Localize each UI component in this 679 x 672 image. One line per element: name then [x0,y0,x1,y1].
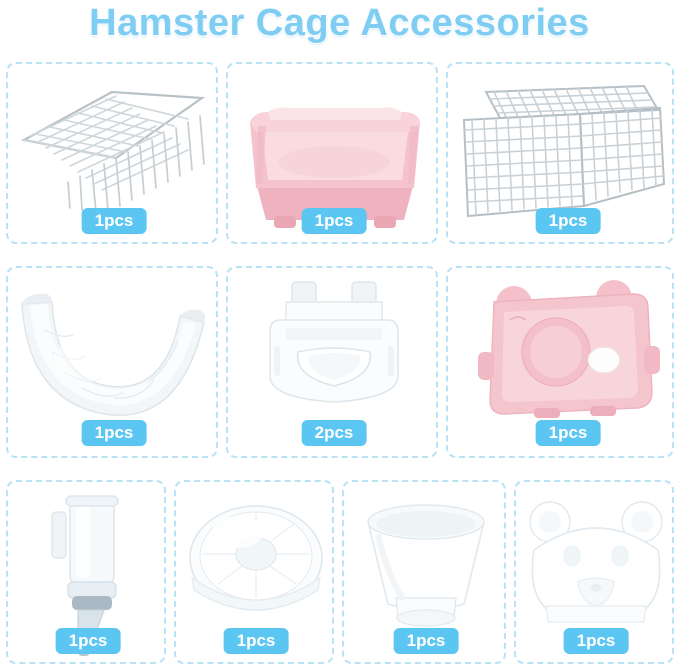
quantity-badge: 1pcs [536,420,601,446]
product-cell-ceramic-food-bowl: 1pcs [342,480,506,664]
product-cell-plastic-platform-bracket: 2pcs [226,266,438,458]
quantity-badge: 1pcs [536,208,601,234]
quantity-badge: 1pcs [564,628,629,654]
quantity-badge: 1pcs [56,628,121,654]
product-cell-bear-hideout-house: 1pcs [514,480,674,664]
product-accessory-infographic: Hamster Cage Accessories [0,0,679,672]
page-title: Hamster Cage Accessories [0,2,679,45]
quantity-badge: 2pcs [302,420,367,446]
quantity-badge: 1pcs [394,628,459,654]
product-cell-water-bottle: 1pcs [6,480,166,664]
quantity-badge: 1pcs [82,420,147,446]
product-cell-clear-exercise-wheel: 1pcs [174,480,334,664]
product-cell-wire-cage-panel-large: 1pcs [446,62,674,244]
product-cell-pink-bedding-tray: 1pcs [226,62,438,244]
product-cell-wire-ladder-ramp: 1pcs [6,62,218,244]
quantity-badge: 1pcs [82,208,147,234]
quantity-badge: 1pcs [224,628,289,654]
product-cell-pink-bear-panel: 1pcs [446,266,674,458]
wire-ladder-ramp-icon [16,84,206,214]
quantity-badge: 1pcs [302,208,367,234]
product-cell-curved-tunnel-slide: 1pcs [6,266,218,458]
